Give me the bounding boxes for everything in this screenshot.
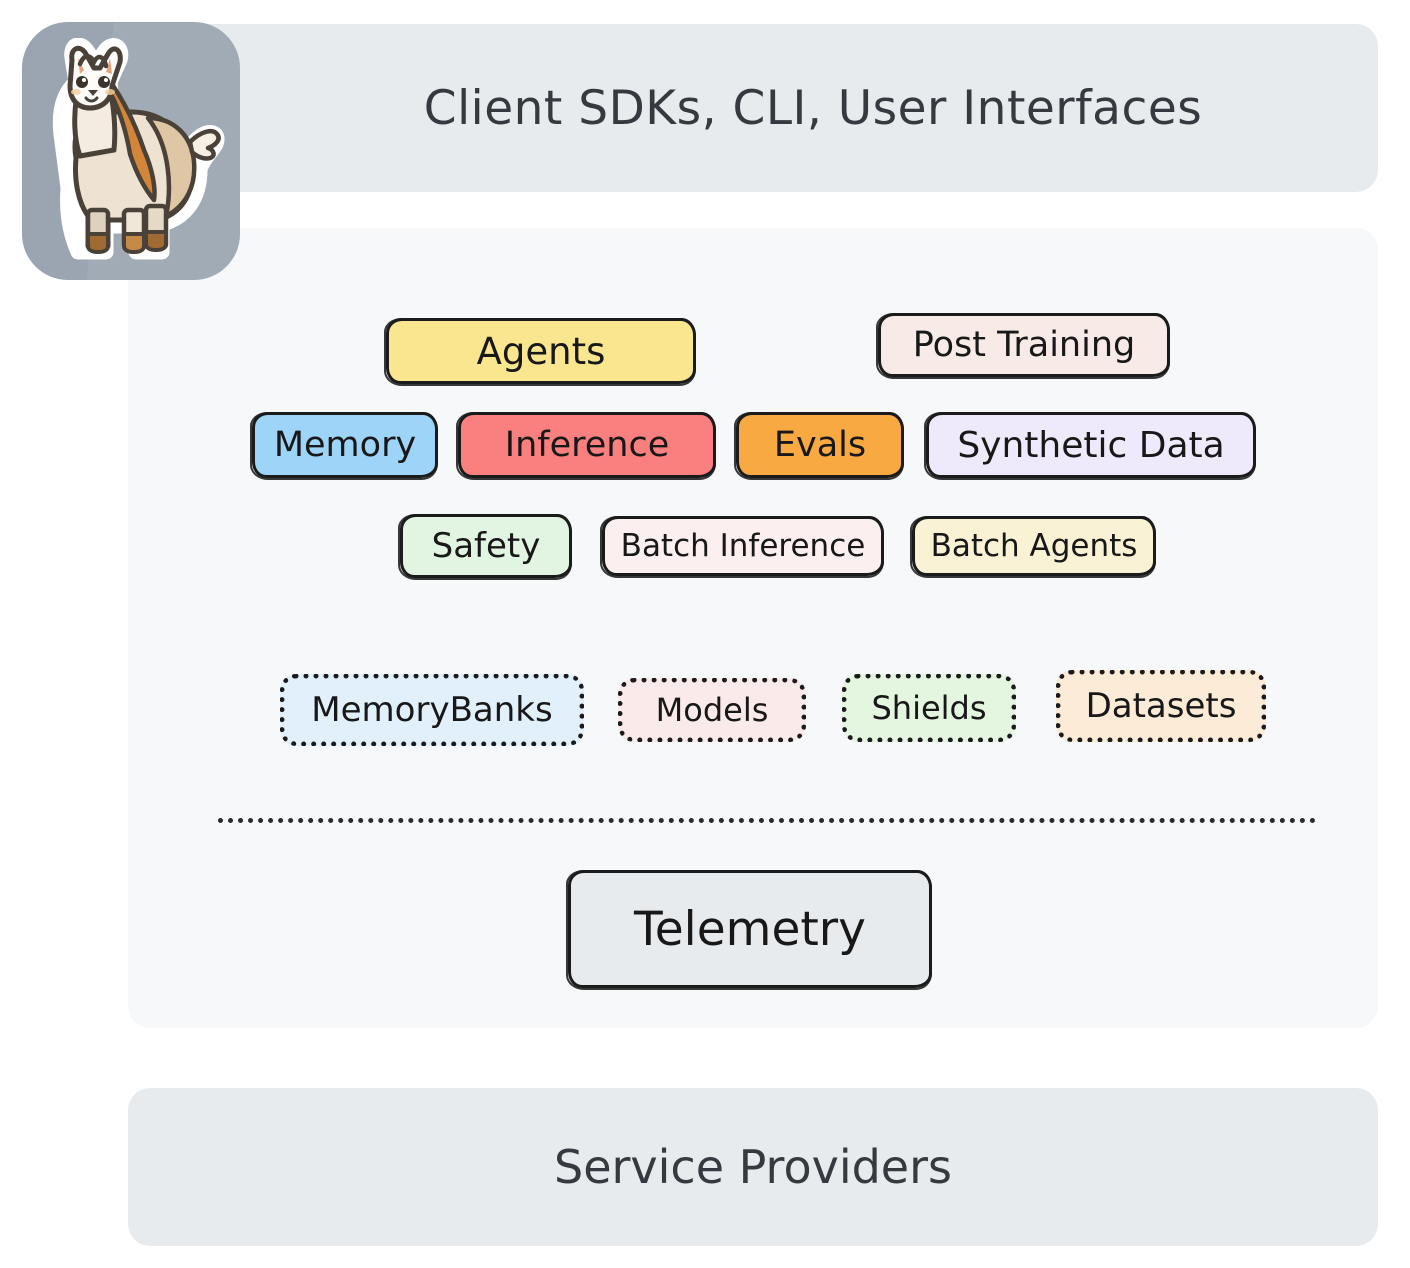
api-node-inference[interactable]: Inference xyxy=(458,412,716,478)
node-label: Agents xyxy=(477,330,606,373)
section-divider xyxy=(218,818,1316,823)
resource-node-models[interactable]: Models xyxy=(618,678,806,742)
client-interfaces-banner: Client SDKs, CLI, User Interfaces xyxy=(128,24,1378,192)
node-label: Batch Inference xyxy=(621,528,866,564)
api-node-evals[interactable]: Evals xyxy=(736,412,904,478)
api-node-agents[interactable]: Agents xyxy=(386,318,696,384)
service-providers-title: Service Providers xyxy=(554,1140,952,1194)
node-label: Safety xyxy=(432,526,541,566)
api-node-synthetic-data[interactable]: Synthetic Data xyxy=(926,412,1256,478)
node-label: Post Training xyxy=(913,325,1135,365)
service-providers-banner: Service Providers xyxy=(128,1088,1378,1246)
node-label: Inference xyxy=(505,425,669,465)
node-label: Datasets xyxy=(1086,686,1237,726)
node-label: Evals xyxy=(774,425,866,465)
node-label: Models xyxy=(656,691,769,729)
llama-icon xyxy=(36,38,226,264)
resource-node-datasets[interactable]: Datasets xyxy=(1056,670,1266,742)
resource-node-memory-banks[interactable]: MemoryBanks xyxy=(280,674,584,746)
api-node-batch-agents[interactable]: Batch Agents xyxy=(912,516,1156,576)
node-label: Synthetic Data xyxy=(957,425,1224,466)
node-label: Shields xyxy=(871,689,986,727)
node-label: Telemetry xyxy=(634,902,866,957)
node-label: Memory xyxy=(274,425,416,465)
api-node-memory[interactable]: Memory xyxy=(252,412,438,478)
node-label: MemoryBanks xyxy=(311,690,552,730)
api-node-batch-inference[interactable]: Batch Inference xyxy=(602,516,884,576)
node-label: Batch Agents xyxy=(931,528,1138,564)
client-interfaces-title: Client SDKs, CLI, User Interfaces xyxy=(304,81,1202,136)
llama-logo-badge xyxy=(22,22,240,280)
telemetry-node[interactable]: Telemetry xyxy=(568,870,932,988)
resource-node-shields[interactable]: Shields xyxy=(842,674,1016,742)
api-node-safety[interactable]: Safety xyxy=(400,514,572,578)
api-node-post-training[interactable]: Post Training xyxy=(878,313,1170,377)
